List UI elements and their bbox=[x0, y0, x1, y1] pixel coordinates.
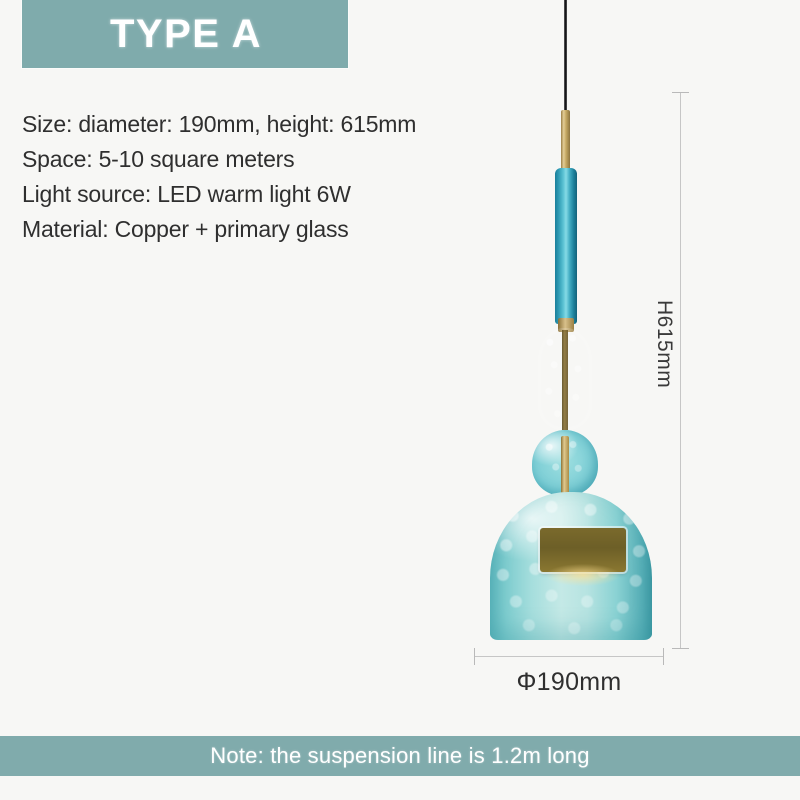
brass-rod-upper bbox=[562, 330, 568, 430]
suspension-cord bbox=[564, 0, 567, 112]
diameter-dimension-cap-left bbox=[474, 648, 475, 665]
spec-line-space: Space: 5-10 square meters bbox=[22, 142, 582, 177]
height-dimension-cap-top bbox=[672, 92, 689, 93]
note-bar: Note: the suspension line is 1.2m long bbox=[0, 736, 800, 776]
hammered-glass-bell-shade bbox=[490, 492, 652, 640]
spec-line-size: Size: diameter: 190mm, height: 615mm bbox=[22, 107, 582, 142]
diameter-dimension-line bbox=[474, 656, 664, 657]
diameter-dimension-cap-right bbox=[663, 648, 664, 665]
diameter-dimension-label: Φ190mm bbox=[474, 668, 664, 697]
smoke-glass-bead bbox=[538, 328, 592, 430]
type-banner: TYPE A bbox=[22, 0, 348, 68]
brass-lamp-holder bbox=[540, 528, 626, 572]
height-dimension-label: H615mm bbox=[652, 300, 676, 388]
spec-line-light-source: Light source: LED warm light 6W bbox=[22, 177, 582, 212]
brass-rod-lower bbox=[561, 436, 569, 532]
brass-ferrule bbox=[558, 318, 574, 332]
specification-list: Size: diameter: 190mm, height: 615mm Spa… bbox=[22, 107, 582, 247]
teal-glass-sphere bbox=[532, 430, 598, 496]
note-bar-label: Note: the suspension line is 1.2m long bbox=[210, 743, 589, 769]
shade-hammered-texture bbox=[490, 492, 652, 640]
type-banner-label: TYPE A bbox=[22, 12, 262, 57]
warm-light-glow bbox=[546, 564, 620, 586]
height-dimension-line bbox=[680, 92, 681, 648]
spec-line-material: Material: Copper + primary glass bbox=[22, 212, 582, 247]
height-dimension-cap-bottom bbox=[672, 648, 689, 649]
